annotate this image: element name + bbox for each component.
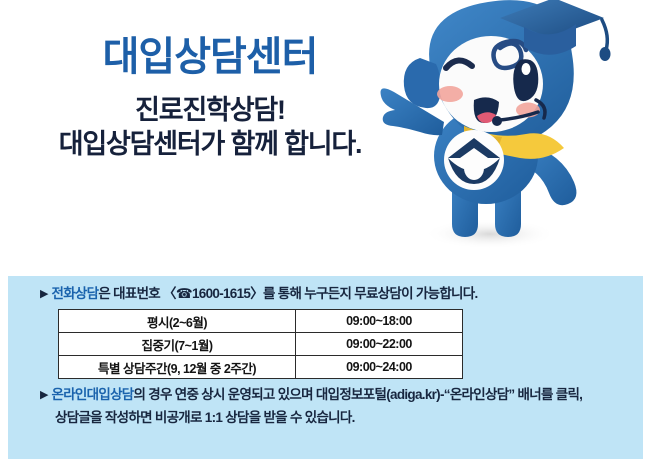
mascot-headset-mic [492, 116, 502, 126]
bullet-phone-text: 전화상담은 대표번호 〈☎1600-1615〉를 통해 누구든지 무료상담이 가… [51, 285, 477, 303]
hero-banner: 대입상담센터 진로진학상담! 대입상담센터가 함께 합니다. [0, 0, 650, 270]
hours-label-cell: 평시(2~6월) [59, 310, 296, 333]
hours-table-body: 평시(2~6월) 09:00~18:00 집중기(7~1월) 09:00~22:… [59, 310, 463, 379]
table-row: 특별 상담주간(9, 12월 중 2주간) 09:00~24:00 [59, 356, 463, 379]
hours-label-cell: 특별 상담주간(9, 12월 중 2주간) [59, 356, 296, 379]
mascot-cap-tassel [600, 47, 611, 61]
page-title: 대입상담센터 [10, 36, 410, 78]
hours-time-cell: 09:00~24:00 [296, 356, 463, 379]
bullet-phone-counseling: ▶ 전화상담은 대표번호 〈☎1600-1615〉를 통해 누구든지 무료상담이… [40, 285, 478, 303]
hours-label-cell: 집중기(7~1월) [59, 333, 296, 356]
operating-hours-table: 평시(2~6월) 09:00~18:00 집중기(7~1월) 09:00~22:… [58, 309, 463, 379]
subtitle-line-1: 진로진학상담! [10, 94, 410, 128]
mascot-hood-ear [404, 58, 441, 108]
hours-time-cell: 09:00~18:00 [296, 310, 463, 333]
bullet-online-text: 온라인대입상담의 경우 연중 상시 운영되고 있으며 대입정보포털(adiga.… [51, 386, 582, 404]
bullet-online-counseling: ▶ 온라인대입상담의 경우 연중 상시 운영되고 있으며 대입정보포털(adig… [40, 386, 582, 404]
table-row: 집중기(7~1월) 09:00~22:00 [59, 333, 463, 356]
hours-time-cell: 09:00~22:00 [296, 333, 463, 356]
triangle-marker-icon: ▶ [40, 285, 48, 303]
mascot-icon [378, 0, 650, 258]
mascot-shadow [424, 219, 556, 249]
mascot-emblem-dot [464, 156, 484, 180]
headline-block: 대입상담센터 진로진학상담! 대입상담센터가 함께 합니다. [10, 36, 410, 162]
bullet-online-highlight: 온라인대입상담 [51, 387, 133, 402]
mascot-cap-tassel-cord [602, 20, 607, 50]
mascot-eye-highlight [522, 63, 531, 75]
mascot-cheek-left [437, 86, 463, 102]
table-row: 평시(2~6월) 09:00~18:00 [59, 310, 463, 333]
info-panel: ▶ 전화상담은 대표번호 〈☎1600-1615〉를 통해 누구든지 무료상담이… [8, 276, 643, 459]
bullet-online-line2: 상담글을 작성하면 비공개로 1:1 상담을 받을 수 있습니다. [55, 409, 355, 427]
bullet-phone-rest: 은 대표번호 〈☎1600-1615〉를 통해 누구든지 무료상담이 가능합니다… [98, 286, 477, 301]
triangle-marker-icon: ▶ [40, 386, 48, 404]
subtitle-line-2: 대입상담센터가 함께 합니다. [10, 128, 410, 162]
bullet-phone-highlight: 전화상담 [51, 286, 98, 301]
bullet-online-rest: 의 경우 연중 상시 운영되고 있으며 대입정보포털(adiga.kr)-“온라… [134, 387, 583, 402]
